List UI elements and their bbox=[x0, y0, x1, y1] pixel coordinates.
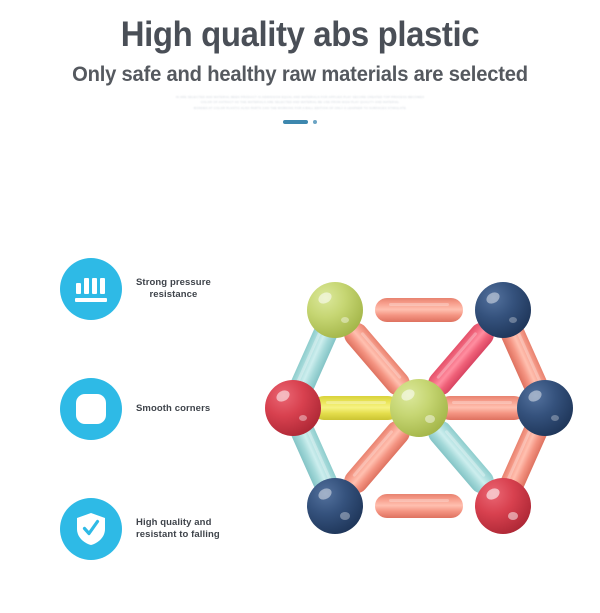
microcopy-line-2: COLOR OF ASTRACT AS THE MATERIALS ARE SE… bbox=[175, 100, 425, 105]
feature-item-pressure: Strong pressure resistance bbox=[60, 253, 250, 325]
header-block: High quality abs plastic Only safe and h… bbox=[0, 0, 600, 126]
feature-badge-durability bbox=[60, 498, 122, 560]
feature-list: Strong pressure resistance Smooth corner… bbox=[60, 253, 250, 613]
feature-label-durability: High quality and resistant to falling bbox=[136, 517, 220, 542]
microcopy-block: IN ARE SELECTED AND MATERIAL BEEN PRODUC… bbox=[175, 95, 425, 111]
toy-ball-bottom-left bbox=[307, 478, 363, 534]
shield-check-icon bbox=[75, 512, 107, 546]
feature-item-corners: Smooth corners bbox=[60, 373, 250, 445]
feature-label-corners: Smooth corners bbox=[136, 403, 210, 415]
toy-ball-top-left bbox=[307, 282, 363, 338]
carousel-dot-2[interactable] bbox=[313, 120, 317, 124]
feature-item-durability: High quality and resistant to falling bbox=[60, 493, 250, 565]
carousel-dot-active[interactable] bbox=[283, 120, 308, 124]
feature-label-corners-line-1: Smooth corners bbox=[136, 403, 210, 415]
feature-badge-corners bbox=[60, 378, 122, 440]
feature-label-durability-line-2: resistant to falling bbox=[136, 529, 220, 541]
feature-badge-pressure bbox=[60, 258, 122, 320]
magnetic-toy-illustration bbox=[238, 248, 600, 568]
product-image bbox=[238, 248, 600, 568]
feature-label-durability-line-1: High quality and bbox=[136, 517, 220, 529]
toy-ball-top-right bbox=[475, 282, 531, 338]
toy-ball-right bbox=[517, 380, 573, 436]
page-title: High quality abs plastic bbox=[18, 16, 582, 54]
feature-label-pressure-line-2: resistance bbox=[136, 289, 211, 301]
toy-ball-left bbox=[265, 380, 321, 436]
toy-ball-bottom-right bbox=[475, 478, 531, 534]
page-subtitle: Only safe and healthy raw materials are … bbox=[12, 63, 588, 86]
carousel-indicator[interactable] bbox=[0, 118, 600, 126]
toy-ball-center bbox=[390, 379, 448, 437]
pressure-bars-icon bbox=[74, 274, 108, 304]
feature-label-pressure-line-1: Strong pressure bbox=[136, 277, 211, 289]
rounded-square-icon bbox=[76, 394, 106, 424]
feature-label-pressure: Strong pressure resistance bbox=[136, 277, 211, 302]
microcopy-line-3: BONDED AT COLOR PLASTIC ALSO PARTS CAN T… bbox=[175, 106, 425, 111]
